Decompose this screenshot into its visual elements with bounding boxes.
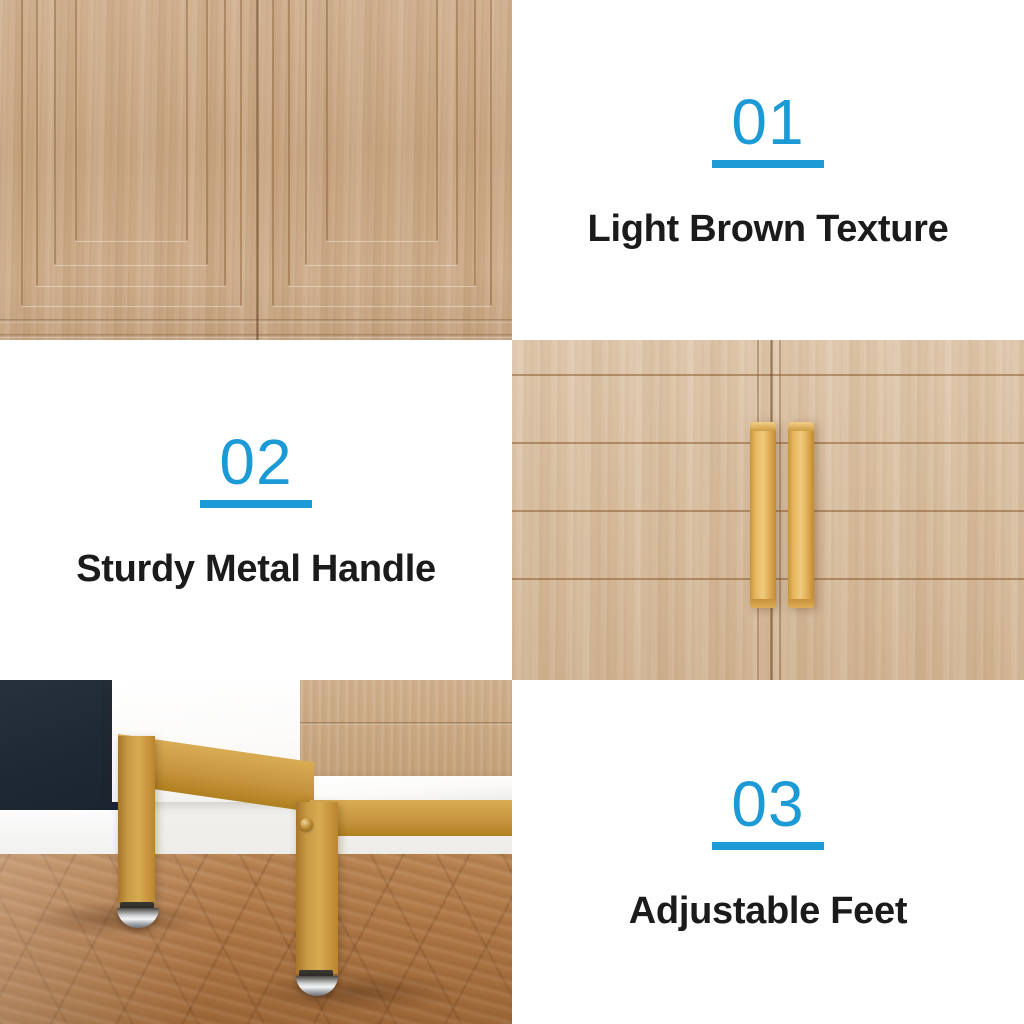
feature-underline-02 — [200, 500, 312, 508]
feature-block-02: 02 Sturdy Metal Handle — [0, 340, 512, 680]
feature-number-02: 02 — [219, 430, 292, 500]
gold-rail-front — [310, 800, 512, 836]
feature-title-02: Sturdy Metal Handle — [76, 548, 436, 591]
leg-screw — [300, 818, 313, 831]
handle-cap-top — [788, 422, 814, 431]
door-base-band — [0, 319, 257, 323]
feature-underline-03 — [712, 842, 824, 850]
handle-bar-right[interactable] — [788, 422, 814, 608]
door-bottom-edge — [0, 334, 257, 338]
feature-number-01: 01 — [731, 90, 804, 160]
feature-grid: 01 Light Brown Texture 02 Sturdy Metal H… — [0, 0, 1024, 1024]
cabinet-leg-left — [118, 736, 155, 904]
feature-title-03: Adjustable Feet — [629, 890, 907, 933]
door-base-band — [257, 319, 512, 323]
feature-block-03: 03 Adjustable Feet — [512, 680, 1024, 1024]
door-bottom-edge — [257, 334, 512, 338]
cabinet-door-wood-panel — [300, 680, 512, 780]
cabinet-body-right — [300, 776, 512, 802]
door-groove-inner — [75, 0, 188, 241]
handle-door-left — [512, 340, 769, 680]
cabinet-wood-groove — [300, 722, 512, 725]
door-groove-inner — [326, 0, 438, 241]
feature-title-01: Light Brown Texture — [588, 208, 949, 251]
feature-block-01: 01 Light Brown Texture — [512, 0, 1024, 340]
door-seam — [256, 0, 259, 340]
leg-floor-shadow-right — [250, 972, 460, 1012]
handle-cap-bottom — [788, 599, 814, 608]
feature-number-03: 03 — [731, 772, 804, 842]
cabinet-doors-texture-photo — [0, 0, 512, 340]
metal-handle-closeup-photo — [512, 340, 1024, 680]
cabinet-door-left — [0, 0, 257, 340]
wall-navy — [0, 680, 120, 818]
handle-bar-left[interactable] — [750, 422, 776, 608]
feature-underline-01 — [712, 160, 824, 168]
handle-cap-top — [750, 422, 776, 431]
handle-cap-bottom — [750, 599, 776, 608]
cabinet-door-right — [257, 0, 512, 340]
handle-door-groove-0 — [779, 340, 1024, 680]
handle-door-groove-0 — [512, 340, 759, 680]
adjustable-feet-photo — [0, 680, 512, 1024]
